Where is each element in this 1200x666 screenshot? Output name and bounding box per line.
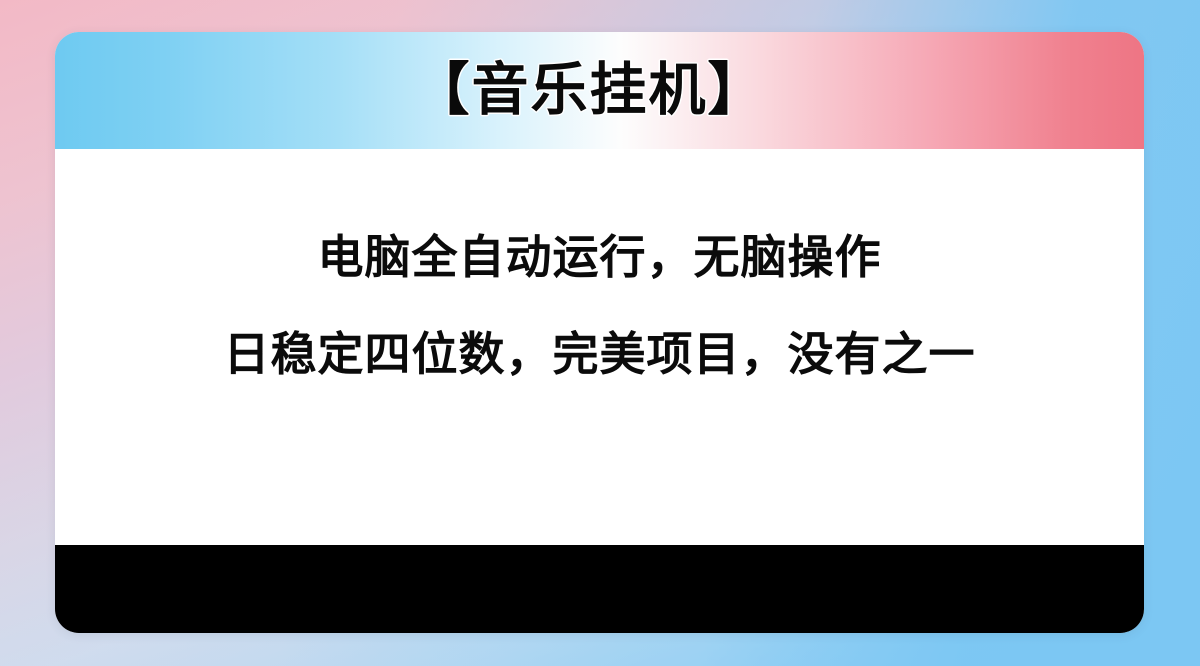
- card-header-banner: 【音乐挂机】: [55, 32, 1144, 149]
- card-body: 电脑全自动运行，无脑操作 日稳定四位数，完美项目，没有之一: [55, 149, 1144, 545]
- body-line-1: 电脑全自动运行，无脑操作: [318, 233, 882, 281]
- promo-card: 【音乐挂机】 电脑全自动运行，无脑操作 日稳定四位数，完美项目，没有之一: [55, 32, 1144, 633]
- card-title: 【音乐挂机】: [413, 62, 767, 119]
- card-footer-bar: [55, 545, 1144, 633]
- poster-canvas: 【音乐挂机】 电脑全自动运行，无脑操作 日稳定四位数，完美项目，没有之一: [0, 0, 1200, 666]
- body-line-2: 日稳定四位数，完美项目，没有之一: [224, 330, 976, 378]
